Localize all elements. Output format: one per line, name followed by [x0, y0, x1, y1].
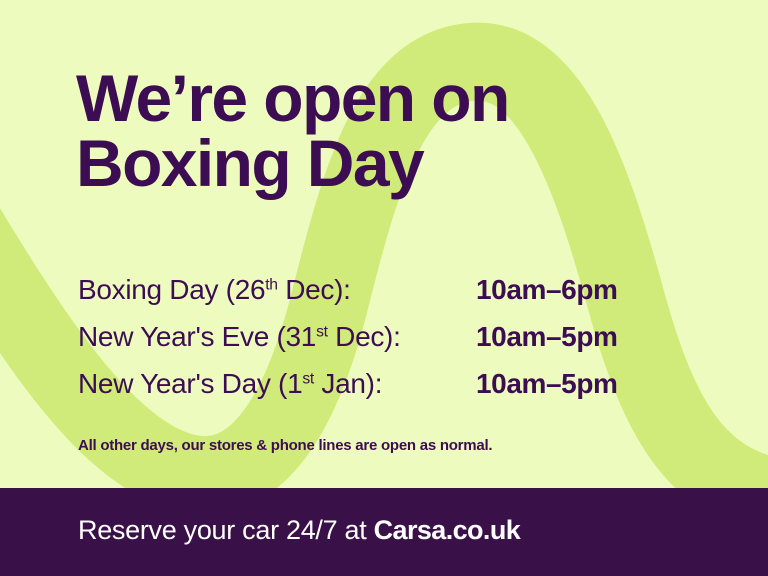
footer-cta-text: Reserve your car 24/7 at Carsa.co.uk: [78, 512, 520, 548]
hours-label-text-tail: Dec):: [328, 321, 401, 352]
table-row: New Year's Day (1st Jan): 10am–5pm: [78, 365, 678, 412]
hours-label-text: New Year's Day (1: [78, 368, 302, 399]
brand-website-label: Carsa.co.uk: [374, 515, 520, 545]
table-row: New Year's Eve (31st Dec): 10am–5pm: [78, 318, 678, 365]
hours-value-new-years-day: 10am–5pm: [476, 365, 618, 403]
hours-value-new-years-eve: 10am–5pm: [476, 318, 618, 356]
footer-cta-prefix: Reserve your car 24/7 at: [78, 515, 374, 545]
headline-line-1: We’re open on: [76, 66, 696, 131]
ordinal-suffix: st: [316, 323, 328, 340]
hours-label-boxing-day: Boxing Day (26th Dec):: [78, 271, 351, 309]
hours-label-text-tail: Jan):: [314, 368, 382, 399]
opening-hours-table: Boxing Day (26th Dec): 10am–6pm New Year…: [78, 271, 678, 412]
hours-label-new-years-day: New Year's Day (1st Jan):: [78, 365, 382, 403]
hours-label-text: New Year's Eve (31: [78, 321, 316, 352]
hours-value-boxing-day: 10am–6pm: [476, 271, 618, 309]
fineprint-note: All other days, our stores & phone lines…: [78, 437, 492, 454]
table-row: Boxing Day (26th Dec): 10am–6pm: [78, 271, 678, 318]
headline-line-2: Boxing Day: [76, 131, 696, 196]
promo-banner: We’re open on Boxing Day Boxing Day (26t…: [0, 0, 768, 576]
hours-label-text: Boxing Day (26: [78, 274, 265, 305]
footer-bar: Reserve your car 24/7 at Carsa.co.uk: [0, 488, 768, 576]
ordinal-suffix: th: [265, 276, 277, 293]
hours-label-new-years-eve: New Year's Eve (31st Dec):: [78, 318, 401, 356]
page-title: We’re open on Boxing Day: [76, 66, 696, 197]
hours-label-text-tail: Dec):: [278, 274, 351, 305]
ordinal-suffix: st: [302, 370, 314, 387]
banner-content: We’re open on Boxing Day Boxing Day (26t…: [0, 0, 768, 488]
